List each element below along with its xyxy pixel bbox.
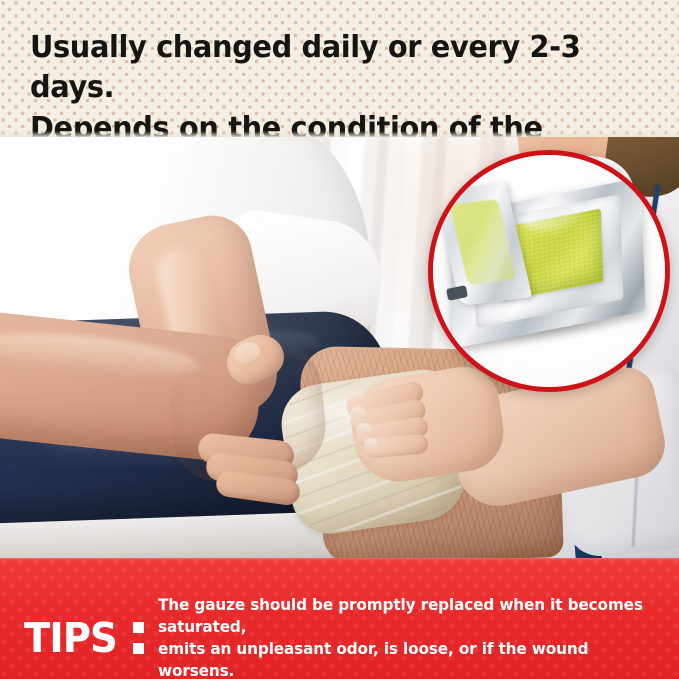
gauze-dressing-inset	[428, 150, 670, 392]
tips-row: TIPS The gauze should be promptly replac…	[24, 594, 665, 679]
tips-colon-icon	[133, 621, 144, 655]
wound-care-infographic: Usually changed daily or every 2-3 days.…	[0, 0, 679, 679]
tips-colon-dot-bottom	[133, 643, 144, 654]
tips-label: TIPS	[24, 618, 117, 659]
tips-body-text: The gauze should be promptly replaced wh…	[158, 594, 655, 679]
tips-colon-dot-top	[133, 622, 144, 633]
main-photo	[0, 137, 679, 558]
page-title: Usually changed daily or every 2-3 days.…	[30, 28, 635, 137]
tips-banner: TIPS The gauze should be promptly replac…	[0, 558, 679, 679]
header-band: Usually changed daily or every 2-3 days.…	[0, 0, 679, 137]
